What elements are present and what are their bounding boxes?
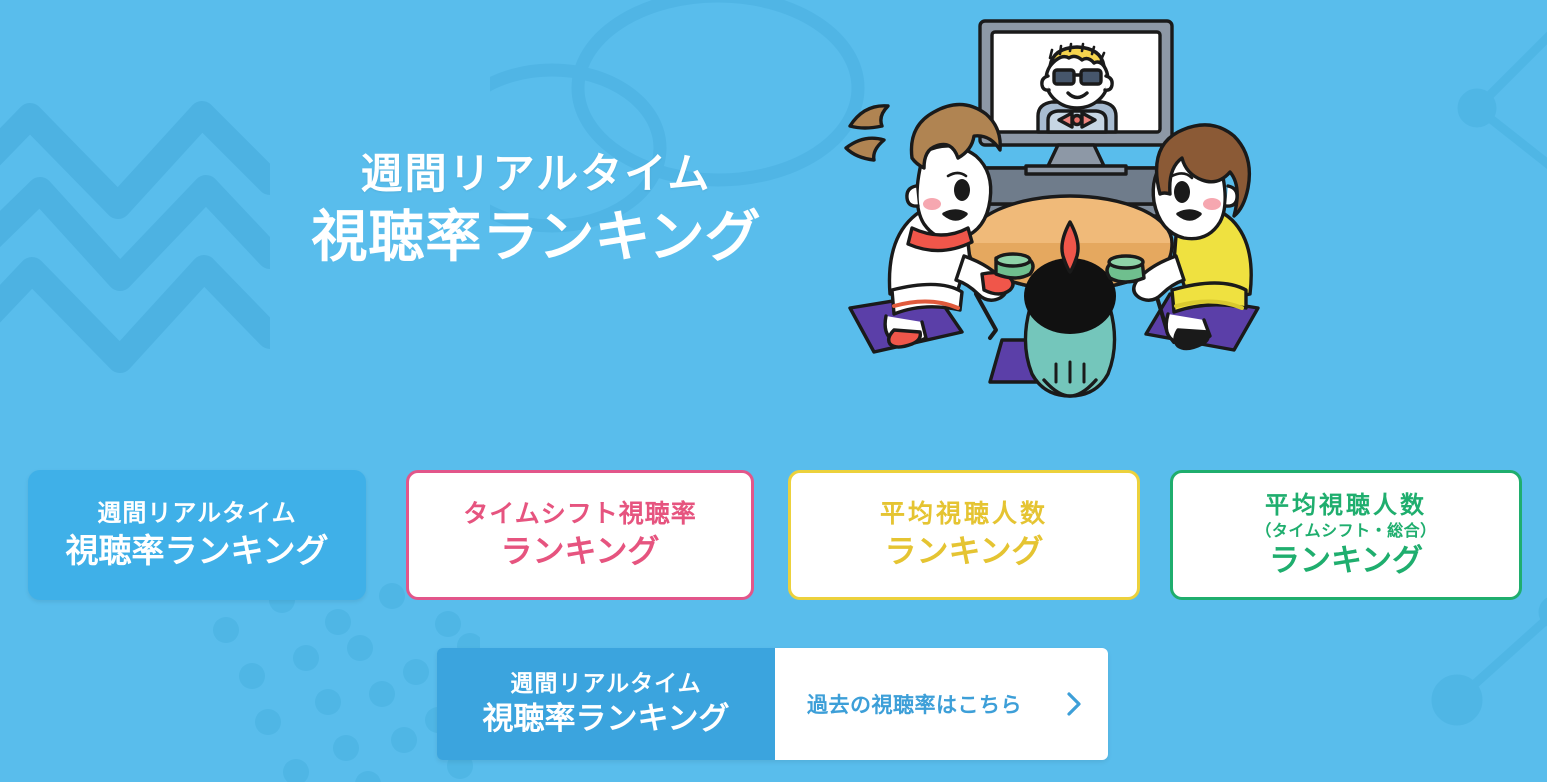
tab-timeshift-rating-sub: タイムシフト視聴率 bbox=[463, 499, 697, 530]
hero-section: 週間リアルタイム 視聴率ランキング bbox=[0, 0, 1547, 440]
page-title-line2-prefix: 視聴率 bbox=[311, 205, 482, 268]
page-title-line2: 視聴率ランキング bbox=[186, 203, 886, 271]
page-title: 週間リアルタイム 視聴率ランキング bbox=[186, 148, 886, 271]
tab-average-viewers-timeshift-total[interactable]: 平均視聴人数 （タイムシフト・総合） ランキング bbox=[1170, 470, 1522, 600]
past-ratings-bar-label[interactable]: 週間リアルタイム 視聴率ランキング bbox=[437, 648, 775, 760]
chevron-right-icon bbox=[1066, 691, 1082, 717]
tab-average-viewers-timeshift-total-sub: 平均視聴人数 bbox=[1265, 491, 1427, 521]
ranking-tabs: 週間リアルタイム 視聴率ランキング タイムシフト視聴率 ランキング 平均視聴人数… bbox=[0, 466, 1547, 606]
tab-average-viewers-timeshift-total-paren: （タイムシフト・総合） bbox=[1255, 522, 1436, 541]
tab-average-viewers-timeshift-total-main: ランキング bbox=[1269, 542, 1423, 579]
family-watching-tv-illustration bbox=[820, 8, 1320, 400]
tab-average-viewers-main: ランキング bbox=[884, 532, 1043, 570]
tab-weekly-realtime[interactable]: 週間リアルタイム 視聴率ランキング bbox=[28, 470, 366, 600]
tab-average-viewers-sub: 平均視聴人数 bbox=[880, 499, 1048, 530]
page-title-line2-suffix: ランキング bbox=[482, 205, 760, 268]
tab-weekly-realtime-main: 視聴率ランキング bbox=[65, 531, 328, 571]
tab-weekly-realtime-sub: 週間リアルタイム bbox=[97, 499, 296, 529]
past-ratings-bar-label-sub: 週間リアルタイム bbox=[510, 669, 701, 699]
tab-timeshift-rating[interactable]: タイムシフト視聴率 ランキング bbox=[406, 470, 754, 600]
page-title-line1: 週間リアルタイム bbox=[186, 148, 886, 201]
dot-pattern-icon bbox=[60, 582, 480, 782]
tab-timeshift-rating-main: ランキング bbox=[500, 532, 659, 570]
past-ratings-link[interactable]: 過去の視聴率はこちら bbox=[775, 648, 1108, 760]
past-ratings-link-text: 過去の視聴率はこちら bbox=[807, 689, 1022, 719]
past-ratings-bar-label-main: 視聴率ランキング bbox=[482, 700, 729, 739]
tab-average-viewers[interactable]: 平均視聴人数 ランキング bbox=[788, 470, 1140, 600]
past-ratings-bar: 週間リアルタイム 視聴率ランキング 過去の視聴率はこちら bbox=[437, 648, 1108, 760]
page-root: 週間リアルタイム 視聴率ランキング bbox=[0, 0, 1547, 782]
